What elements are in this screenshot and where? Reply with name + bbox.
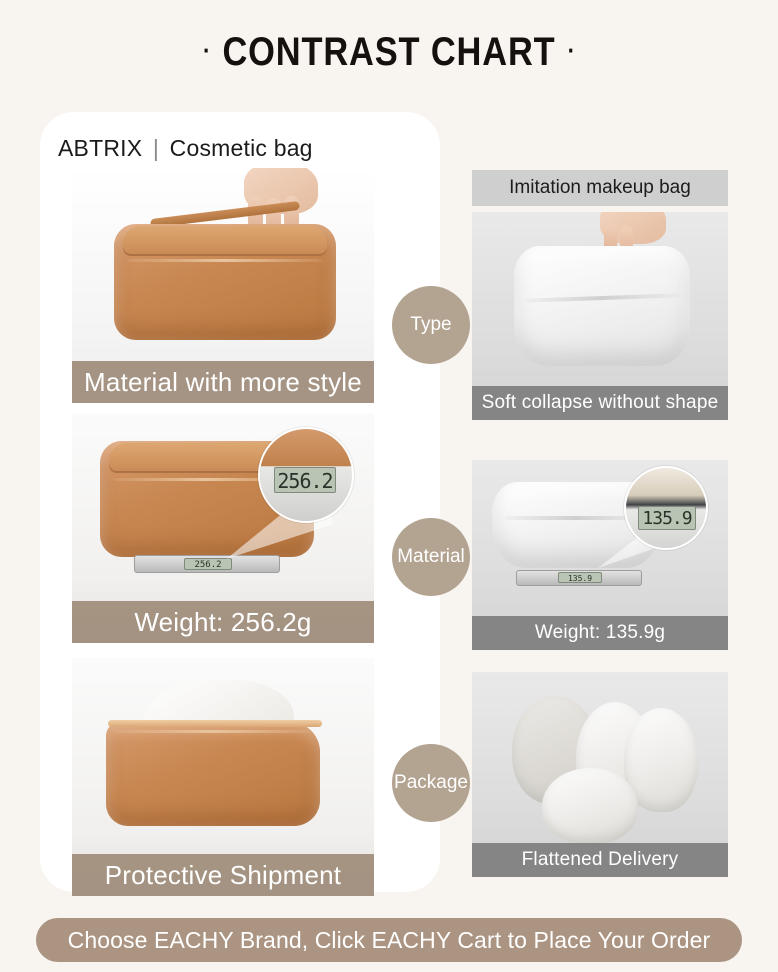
- brand-name: ABTRIX: [58, 135, 142, 161]
- bag-zipper-trim: [108, 720, 322, 727]
- right-photo-type: Soft collapse without shape: [472, 212, 728, 420]
- title-dot-left: ·: [203, 35, 210, 65]
- badge-type: Type: [392, 286, 470, 364]
- fabric-lobe: [542, 768, 638, 844]
- bag-lid: [123, 226, 327, 256]
- caption-material-style: Material with more style: [72, 361, 374, 403]
- caption-soft-collapse: Soft collapse without shape: [472, 386, 728, 420]
- brand-separator: |: [153, 135, 159, 161]
- scale-display: 135.9: [558, 572, 602, 583]
- imitation-header: Imitation makeup bag: [472, 170, 728, 206]
- right-photo-material: 135.9 135.9 Weight: 135.9g: [472, 460, 728, 650]
- caption-weight-right: Weight: 135.9g: [472, 616, 728, 650]
- right-photo-package: Flattened Delivery: [472, 672, 728, 877]
- white-bag: [514, 246, 690, 366]
- product-name: Cosmetic bag: [170, 135, 313, 161]
- magnified-scale-display: 135.9: [638, 506, 696, 530]
- title-dot-right: ·: [568, 35, 575, 65]
- badge-material: Material: [392, 518, 470, 596]
- tan-bag-open: [106, 722, 320, 826]
- caption-weight-left: Weight: 256.2g: [72, 601, 374, 643]
- badge-package: Package: [392, 744, 470, 822]
- page-title: ·CONTRAST CHART·: [54, 30, 723, 75]
- caption-protective-shipment: Protective Shipment: [72, 854, 374, 896]
- brand-heading: ABTRIX | Cosmetic bag: [58, 135, 313, 162]
- scale-display: 256.2: [184, 558, 232, 570]
- caption-flattened-delivery: Flattened Delivery: [472, 843, 728, 877]
- page-title-text: CONTRAST CHART: [222, 30, 555, 74]
- cta-banner[interactable]: Choose EACHY Brand, Click EACHY Cart to …: [36, 918, 742, 962]
- left-photo-material: 256.2 256.2 Weight: 256.2g: [72, 413, 374, 643]
- bag-zipper: [115, 730, 312, 733]
- tan-bag: [114, 224, 336, 340]
- bag-zipper: [127, 259, 322, 262]
- magnifier-bubble: 135.9: [624, 466, 708, 550]
- magnified-scale-display: 256.2: [274, 467, 336, 493]
- left-photo-package: Protective Shipment: [72, 658, 374, 896]
- bag-zipper: [525, 294, 680, 303]
- left-photo-type: Material with more style: [72, 168, 374, 403]
- magnifier-bubble: 256.2: [258, 427, 354, 523]
